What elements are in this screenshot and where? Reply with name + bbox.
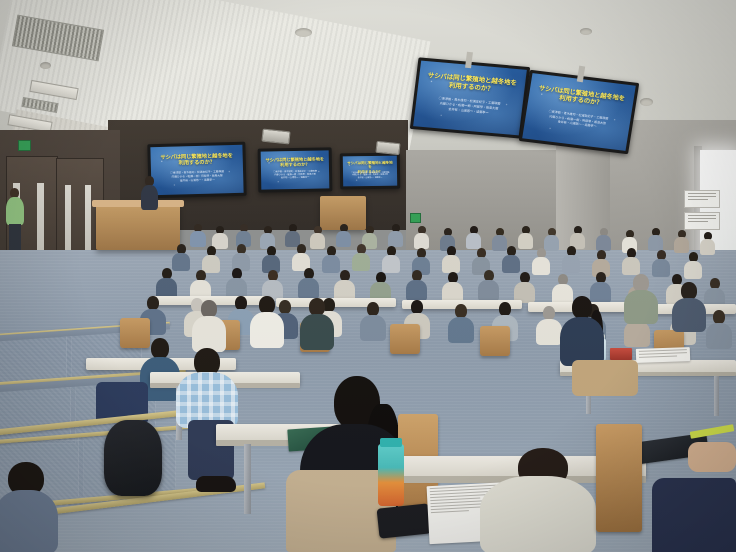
audience-member [336, 224, 351, 246]
audience-member [334, 270, 355, 300]
audience-member [250, 296, 284, 348]
chair-back[interactable] [480, 326, 510, 356]
audience-member [226, 268, 247, 298]
audience-member [562, 246, 580, 272]
audience-member [596, 228, 611, 250]
lecture-hall-photo: サシバは同じ繁殖地と越冬地を 利用するのか？ ◯東淳樹・青木雄司・松浦友紀子・工… [0, 0, 736, 552]
head [151, 338, 169, 359]
exit-sign-icon-2 [410, 213, 421, 223]
audience-member [706, 310, 732, 348]
audience-member [202, 246, 220, 272]
attendee-torso [6, 197, 24, 225]
exit-sign-icon [18, 140, 31, 151]
slide-body-1: ◯東淳樹・青木雄司・松浦友紀子・工藤琢磨 内藤ひかる・佐藤一樹・阿部學・飯島大智… [159, 170, 235, 184]
chair-back[interactable] [596, 424, 642, 532]
foreground-attendee-cream [480, 448, 596, 552]
audience-member [448, 304, 474, 342]
audience-member [536, 306, 562, 344]
audience-member [190, 224, 206, 246]
desk-leg [244, 444, 251, 514]
audience-member [442, 246, 460, 272]
front-screen-right: サシバは同じ繁殖地と越冬地を 利用するのか？ ◯東淳樹・青木雄司・松浦友紀子・工… [340, 153, 400, 190]
presenter-torso [141, 185, 158, 210]
backpack[interactable] [104, 420, 162, 496]
torso [560, 317, 604, 366]
drink-bottle-cap [380, 438, 402, 447]
audience-member [466, 226, 481, 248]
chair-back[interactable] [390, 324, 420, 354]
door-glass-panel-3 [65, 185, 71, 251]
audience-member [382, 246, 400, 272]
audience-member [518, 226, 533, 248]
audience-member [156, 268, 177, 298]
audience-member [262, 246, 280, 272]
audience-member [300, 298, 334, 350]
slide-title-1: サシバは同じ繁殖地と越冬地を 利用するのか？ [156, 153, 237, 168]
front-screen-left: サシバは同じ繁殖地と越冬地を 利用するのか？ ◯東淳樹・青木雄司・松浦友紀子・工… [147, 142, 246, 199]
audience-member [352, 244, 370, 270]
torso [0, 490, 58, 552]
audience-member [322, 246, 340, 272]
audience-member [236, 224, 251, 246]
front-screen-center: サシバは同じ繁殖地と越冬地を 利用するのか？ ◯東淳樹・青木雄司・松浦友紀子・工… [258, 147, 333, 192]
hanging-monitor-left: サシバは同じ繁殖地と越冬地を 利用するのか？ ◯東淳樹・青木雄司・松浦友紀子・工… [410, 57, 530, 138]
slide-body-2: ◯東淳樹・青木雄司・松浦友紀子・工藤琢磨 内藤ひかる・佐藤一樹・阿部學・飯島大智… [267, 170, 323, 181]
audience-member [442, 272, 463, 302]
slide-content-3: サシバは同じ繁殖地と越冬地を 利用するのか？ ◯東淳樹・青木雄司・松浦友紀子・工… [343, 156, 397, 187]
audience-member [212, 226, 228, 248]
wall-notice-1 [684, 190, 720, 208]
audience-member [648, 228, 663, 250]
shoe [196, 476, 236, 492]
audience-member [544, 228, 559, 250]
audience-member [292, 244, 310, 270]
torso-cream-shirt [480, 476, 596, 552]
audience-member [672, 282, 706, 332]
lectern-podium [96, 204, 180, 250]
lectern-top [92, 200, 184, 207]
audience-member [674, 230, 689, 252]
paper-sheet[interactable] [636, 347, 690, 363]
slide-content-5: サシバは同じ繁殖地と越冬地を 利用するのか？ ◯東淳樹・青木雄司・松浦友紀子・工… [522, 73, 636, 151]
ceiling-speaker-1 [40, 62, 51, 69]
projector-1 [261, 129, 290, 145]
audience-member [298, 268, 319, 298]
audience-member-plaid [176, 348, 238, 426]
door-glass-panel-4 [85, 185, 91, 251]
head [572, 296, 592, 319]
slide-content-2: サシバは同じ繁殖地と越冬地を 利用するのか？ ◯東淳樹・青木雄司・松浦友紀子・工… [261, 150, 330, 189]
audience-member [622, 248, 640, 274]
slide-title-2: サシバは同じ繁殖地と越冬地を 利用するのか？ [265, 157, 325, 169]
presenter [140, 176, 158, 210]
audience-member [192, 300, 226, 352]
slide-body-3: ◯東淳樹・青木雄司・松浦友紀子・工藤琢磨 内藤ひかる・佐藤一樹・阿部學・飯島大智… [348, 171, 392, 180]
foreground-attendee-right-legs [652, 478, 736, 552]
audience-member [532, 248, 550, 274]
audience-member [388, 224, 403, 246]
audience-member [260, 226, 275, 248]
audience-member [285, 224, 300, 246]
door-glass-panel-2 [37, 183, 44, 255]
attendee-legs [9, 224, 21, 250]
audience-member-legs [572, 360, 638, 396]
slide-content-4: サシバは同じ繁殖地と越冬地を 利用するのか？ ◯東淳樹・青木雄司・松浦友紀子・工… [413, 61, 527, 136]
ceiling-speaker-2 [295, 28, 312, 37]
audience-member [652, 250, 670, 276]
slide-content-1: サシバは同じ繁殖地と越冬地を 利用するのか？ ◯東淳樹・青木雄司・松浦友紀子・工… [150, 145, 243, 195]
audience-member [502, 246, 520, 272]
audience-member [172, 244, 190, 270]
audience-member [514, 272, 535, 302]
audience-member [232, 244, 250, 270]
audience-member [570, 226, 585, 248]
projector-2 [375, 141, 400, 155]
standing-attendee-left [6, 188, 24, 250]
audience-member [414, 226, 429, 248]
audience-member [360, 302, 386, 340]
red-booklet[interactable] [610, 348, 632, 360]
audience-member [406, 270, 427, 300]
audience-member [700, 232, 715, 254]
smartphone[interactable] [377, 503, 432, 538]
audience-member [478, 270, 499, 300]
foreground-attendee-left [0, 462, 58, 552]
desk-leg [714, 376, 719, 416]
hand [688, 442, 736, 472]
drink-bottle[interactable] [378, 444, 404, 506]
audience-member [310, 226, 325, 248]
wall-notice-2 [684, 212, 720, 230]
ceiling-speaker-4 [580, 28, 592, 35]
hanging-monitor-right: サシバは同じ繁殖地と越冬地を 利用するのか？ ◯東淳樹・青木雄司・松浦友紀子・工… [519, 70, 640, 155]
audience-member-seated-right [560, 296, 604, 366]
audience-member [624, 274, 658, 324]
ceiling-speaker-3 [640, 98, 653, 106]
